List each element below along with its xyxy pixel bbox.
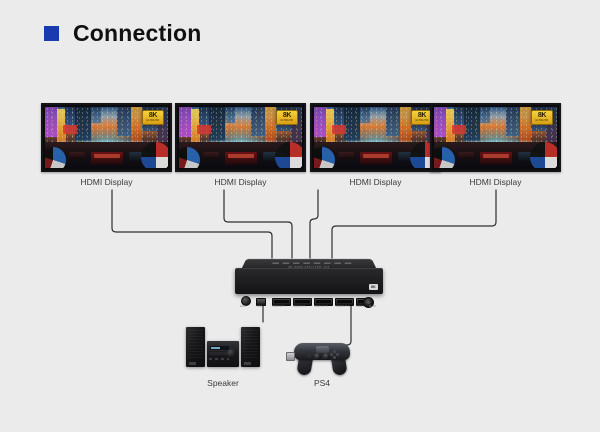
dc-power-label: DC 5V [369,305,376,308]
ps4-label: PS4 [286,378,358,388]
speaker-right [241,327,260,367]
page-title-text: Connection [73,22,202,45]
display-screen-3: 8K ULTRA HD [314,107,437,168]
badge-8k-icon: 8K ULTRA HD [531,110,553,125]
hdmi-display-3-label: HDMI Display [310,177,441,187]
analog-stick-right[interactable] [323,353,330,360]
display-screen-2: 8K ULTRA HD [179,107,302,168]
hdmi-out-4-label: HDMI OUT 4 [335,305,349,308]
hdmi-out-1-label: HDMI OUT 1 [272,305,286,308]
hdmi-out-2-label: HDMI OUT 2 [293,305,307,308]
cable-display-4 [332,190,496,258]
display-screen-4: 8K ULTRA HD [434,107,557,168]
hdmi-display-3: 8K ULTRA HD [310,103,441,172]
speaker-buttons[interactable] [209,358,229,360]
ps4-controller [286,338,358,376]
square-bullet-icon [44,26,59,41]
cable-display-3 [310,190,318,258]
face-buttons[interactable] [330,350,339,359]
dpad-icon[interactable] [306,351,313,358]
usb-label: USB [257,305,262,308]
speaker-badge [189,362,196,365]
speaker-badge [244,362,251,365]
cable-display-1 [112,190,272,258]
badge-8k-sub: ULTRA HD [536,119,549,122]
speaker-disc-tray[interactable] [209,352,228,355]
hdmi-out-3-label: HDMI OUT 3 [314,305,328,308]
speaker-grille [188,330,203,359]
edid-label: EDID [240,305,246,308]
badge-8k-sub: ULTRA HD [416,119,429,122]
hdmi-display-2: 8K ULTRA HD [175,103,306,172]
speaker-center-unit [207,341,239,367]
badge-8k-sub: ULTRA HD [281,119,294,122]
speaker-grille [243,330,258,359]
page-title: Connection [44,22,202,45]
hdmi-display-1: 8K ULTRA HD [41,103,172,172]
connection-diagram: Connection [0,0,600,432]
display-screen-1: 8K ULTRA HD [45,107,168,168]
device-top-stripes [272,262,351,263]
hdmi-splitter-device: 8K HDMI SPLITTER 1X4 8K EDID USB HDMI OU… [235,255,383,301]
touchpad[interactable] [316,346,329,353]
usb-connector-icon [286,352,295,361]
badge-8k-icon: 8K ULTRA HD [142,110,164,125]
controller-body [294,343,350,360]
speaker-volume-knob[interactable] [227,349,236,358]
speaker-left [186,327,205,367]
badge-8k-icon: 8K ULTRA HD [276,110,298,125]
hdmi-display-4: 8K ULTRA HD [430,103,561,172]
analog-stick-left[interactable] [314,353,321,360]
speaker-label: Speaker [186,378,260,388]
device-logo: 8K [369,284,378,290]
device-front-panel: 8K EDID USB HDMI OUT 1 HDMI OUT 2 HDMI O… [235,268,383,294]
badge-8k-sub: ULTRA HD [147,119,160,122]
speaker-system [186,323,260,371]
hdmi-display-4-label: HDMI Display [430,177,561,187]
hdmi-display-2-label: HDMI Display [175,177,306,187]
cable-display-2 [224,190,292,258]
hdmi-display-1-label: HDMI Display [41,177,172,187]
